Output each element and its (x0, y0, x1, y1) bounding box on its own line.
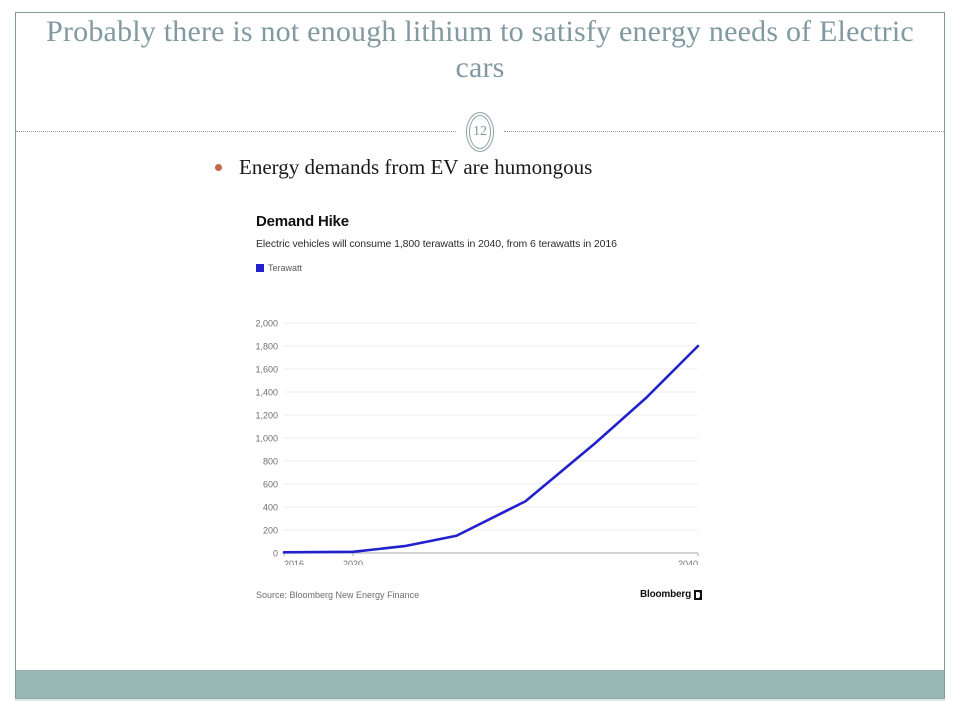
y-tick-label: 1,600 (255, 365, 278, 375)
list-item: Energy demands from EV are humongous (215, 155, 592, 180)
bloomberg-brand: Bloomberg (640, 589, 702, 600)
chart-y-tick-labels: 02004006008001,0001,2001,4001,6001,8002,… (255, 319, 278, 559)
brand-label: Bloomberg (640, 589, 691, 600)
bullet-text: Energy demands from EV are humongous (239, 155, 592, 180)
chart-subtitle: Electric vehicles will consume 1,800 ter… (256, 238, 716, 250)
chart-plot-area: 02004006008001,0001,2001,4001,6001,8002,… (242, 305, 716, 565)
bloomberg-logo-icon (694, 590, 702, 600)
page-number-badge: 12 (455, 112, 505, 152)
line-chart-svg: 02004006008001,0001,2001,4001,6001,8002,… (242, 305, 716, 565)
y-tick-label: 1,200 (255, 411, 278, 421)
x-tick-label: 2040 (678, 559, 698, 565)
footer-edge-line (15, 698, 945, 701)
chart-series-line-terawatt (284, 346, 698, 552)
y-tick-label: 0 (273, 549, 278, 559)
y-tick-label: 1,800 (255, 342, 278, 352)
y-tick-label: 400 (263, 503, 278, 513)
legend-swatch-terawatt (256, 264, 264, 272)
slide-canvas: Probably there is not enough lithium to … (0, 0, 960, 720)
page-title: Probably there is not enough lithium to … (30, 14, 930, 86)
chart-source-note: Source: Bloomberg New Energy Finance (256, 590, 419, 600)
divider-line-left (16, 131, 456, 132)
x-tick-label: 2020 (343, 559, 363, 565)
y-tick-label: 200 (263, 526, 278, 536)
embedded-chart-figure: Demand Hike Electric vehicles will consu… (242, 200, 716, 612)
chart-title: Demand Hike (256, 213, 716, 230)
footer-accent-bar (16, 670, 944, 698)
chart-footer: Source: Bloomberg New Energy Finance Blo… (242, 589, 716, 600)
y-tick-label: 1,000 (255, 434, 278, 444)
chart-legend: Terawatt (256, 263, 716, 273)
round-bullet-icon (215, 164, 222, 171)
y-tick-label: 2,000 (255, 319, 278, 329)
legend-label-terawatt: Terawatt (268, 263, 302, 273)
page-number: 12 (473, 112, 487, 152)
x-tick-label: 2016 (284, 559, 304, 565)
chart-gridlines (284, 323, 698, 530)
y-tick-label: 600 (263, 480, 278, 490)
y-tick-label: 800 (263, 457, 278, 467)
slide-title-block: Probably there is not enough lithium to … (30, 14, 930, 86)
divider-line-right (504, 131, 944, 132)
chart-x-tick-labels: 201620202040 (284, 553, 698, 565)
y-tick-label: 1,400 (255, 388, 278, 398)
chart-header: Demand Hike Electric vehicles will consu… (242, 200, 716, 273)
